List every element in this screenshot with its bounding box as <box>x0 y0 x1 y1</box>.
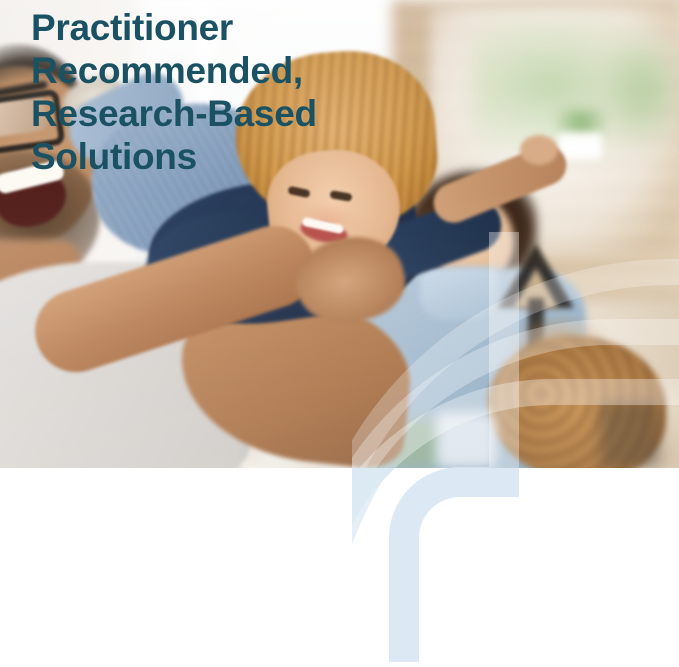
photo-object-3 <box>600 400 660 468</box>
photo-plant-pot <box>558 133 602 159</box>
headline-line-2: Recommended, <box>31 50 431 93</box>
headline-line-4: Solutions <box>31 136 431 179</box>
photo-object-4 <box>436 412 496 468</box>
photo-greenery-2 <box>600 30 679 150</box>
photo-mother-collar <box>420 268 498 320</box>
headline-line-1: Practitioner <box>31 7 431 50</box>
photo-child-hand <box>520 135 558 165</box>
headline-panel <box>0 468 679 667</box>
hero-card: Practitioner Recommended, Research-Based… <box>0 0 679 667</box>
headline-line-3: Research-Based <box>31 93 431 136</box>
page-title: Practitioner Recommended, Research-Based… <box>31 7 431 179</box>
